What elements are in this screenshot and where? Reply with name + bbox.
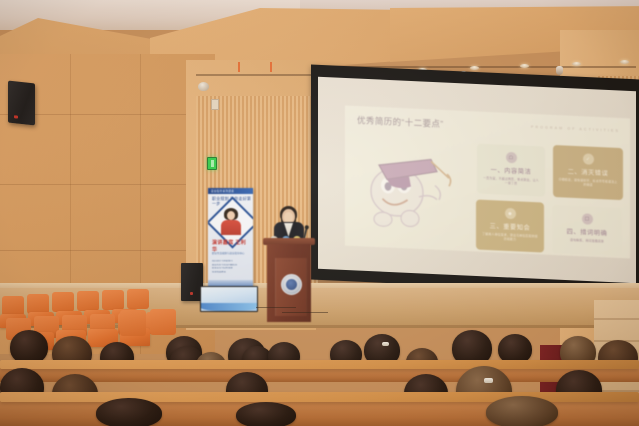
- hair-clip: [382, 342, 389, 346]
- desk-row-top: [0, 360, 639, 369]
- slide-card-1: ☖ 一、内容简洁 一页为宜，不超过两页，重点突出，让人一目了然: [477, 144, 545, 197]
- stage-confidence-monitor: [200, 286, 258, 312]
- banner-top-strip-text: 就业指导系列讲座: [211, 189, 234, 193]
- projected-slide: 优秀简历的“十二要点” PROGRAM OF ACTIVITIES ☖ 一: [345, 106, 630, 259]
- emergency-exit-sign: [207, 157, 217, 170]
- chat-icon: ☻: [505, 208, 516, 219]
- audience-head: [486, 396, 558, 426]
- slide-card-4-heading: 四、措词明确: [552, 226, 622, 238]
- ceiling-downlight-7: [620, 60, 629, 64]
- banner-speaker-portrait: [220, 208, 242, 235]
- slide-card-3: ☻ 三、重要知会 了解用人单位需求，突出与岗位匹配的经历和能力: [476, 199, 544, 252]
- cable: [282, 312, 328, 313]
- light-hanger-1: [238, 62, 240, 72]
- slide-card-1-heading: 一、内容简洁: [477, 165, 545, 177]
- wall-mounted-loudspeaker: [8, 81, 35, 126]
- check-icon: ✓: [583, 153, 594, 164]
- auditorium-photo: 优秀简历的“十二要点” PROGRAM OF ACTIVITIES ☖ 一: [0, 0, 639, 426]
- slide-card-4: ☐ 四、措词明确 语句精炼，用词准确具体: [552, 205, 622, 256]
- university-seal-icon: [281, 274, 302, 295]
- banner-bullet-list: 简历制作与求职技巧 面试礼仪与常见问题应对 职业定位与目标管理 就业政策解读: [212, 260, 249, 275]
- wall-control-plate[interactable]: [211, 99, 219, 110]
- audience-head: [96, 398, 162, 426]
- slide-title: 优秀简历的“十二要点”: [357, 114, 444, 130]
- cable: [256, 307, 296, 308]
- ceiling-dome-light: [198, 82, 209, 91]
- slide-eyebrow: PROGRAM OF ACTIVITIES: [531, 125, 620, 133]
- lectern-body: [267, 244, 311, 322]
- ceiling-downlight-6: [572, 62, 581, 66]
- light-hanger-2: [270, 62, 272, 72]
- lighting-track-left: [196, 74, 316, 76]
- slide-card-4-desc: 语句精炼，用词准确具体: [552, 237, 622, 245]
- slide-card-3-desc: 了解用人单位需求，突出与岗位匹配的经历和能力: [476, 231, 544, 243]
- ceiling-downlight-4: [470, 66, 479, 70]
- slide-card-1-desc: 一页为宜，不超过两页，重点突出，让人一目了然: [477, 176, 545, 188]
- ceiling-downlight-5: [520, 64, 529, 68]
- slide-card-2: ✓ 二、消灭错误 仔细核查，避免错别字、标点符号和语法上的错误: [553, 145, 623, 200]
- doc-icon: ☐: [582, 213, 593, 224]
- ceiling-spotlight-4: [556, 66, 563, 75]
- audience-head: [236, 402, 296, 426]
- slide-card-2-heading: 二、消灭错误: [553, 166, 623, 178]
- slide-card-2-desc: 仔细核查，避免错别字、标点符号和语法上的错误: [553, 177, 623, 189]
- mascot-illustration: [357, 138, 465, 235]
- audience-head: [10, 330, 48, 364]
- scroll-icon: ☖: [506, 152, 517, 163]
- banner-subtitle: 职业生涯规划与就业指导中心: [212, 252, 249, 256]
- hair-clip: [484, 378, 493, 383]
- rollup-banner: 就业指导系列讲座 职业规划 助你走好第一步 演讲嘉宾 王利华 职业生涯规划与就业…: [208, 188, 253, 296]
- banner-bullet: 就业政策解读: [212, 271, 249, 275]
- slide-card-3-heading: 三、重要知会: [476, 220, 544, 232]
